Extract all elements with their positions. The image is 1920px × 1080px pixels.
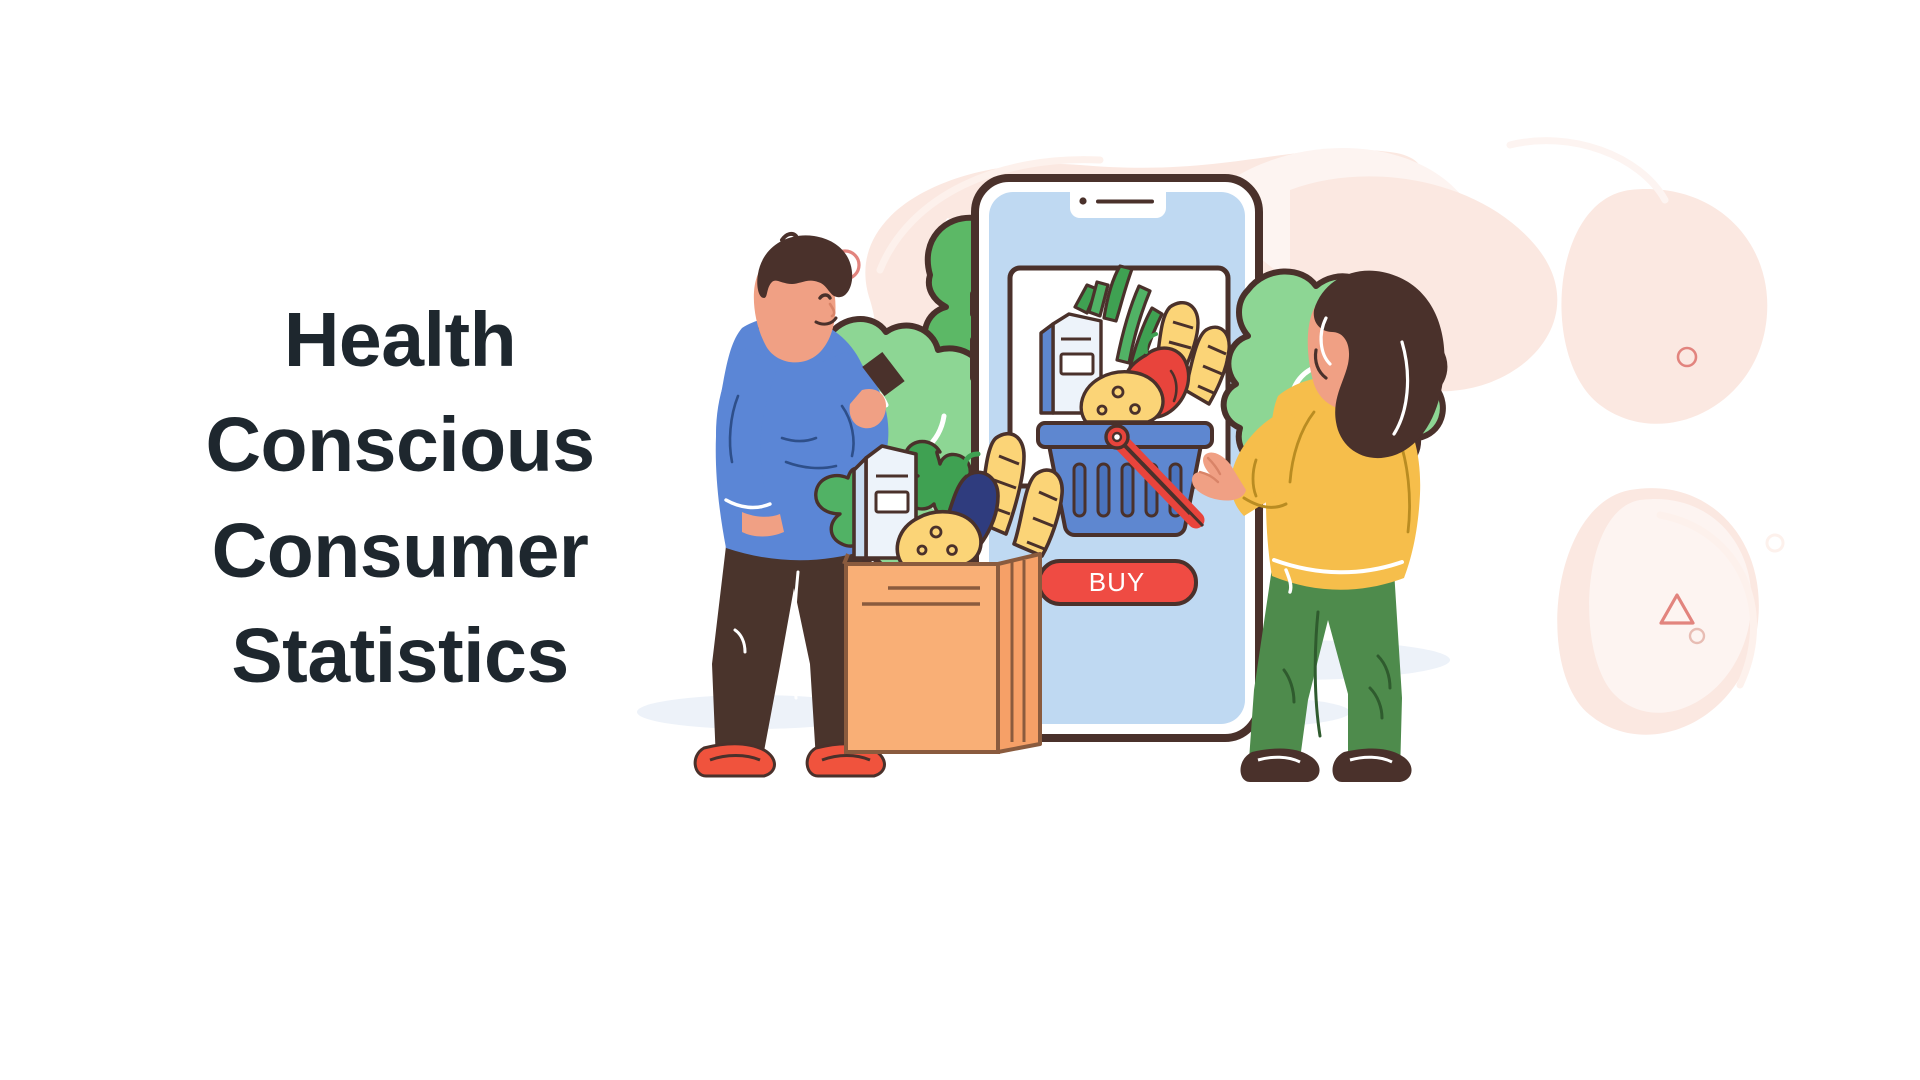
circle-outline-decor	[1767, 535, 1783, 551]
poster-canvas: Health Conscious Consumer Statistics	[0, 0, 1920, 1080]
buy-button-label: BUY	[1089, 567, 1145, 597]
page-title: Health Conscious Consumer Statistics	[150, 288, 650, 710]
shoe	[1241, 749, 1320, 782]
phone-speaker-icon	[1096, 200, 1154, 204]
circle-outline-decor	[1715, 405, 1739, 429]
hero-illustration: BUY	[630, 60, 1920, 960]
buy-button[interactable]: BUY	[1039, 561, 1196, 604]
shoe	[695, 744, 774, 776]
phone-camera-icon	[1079, 197, 1086, 204]
